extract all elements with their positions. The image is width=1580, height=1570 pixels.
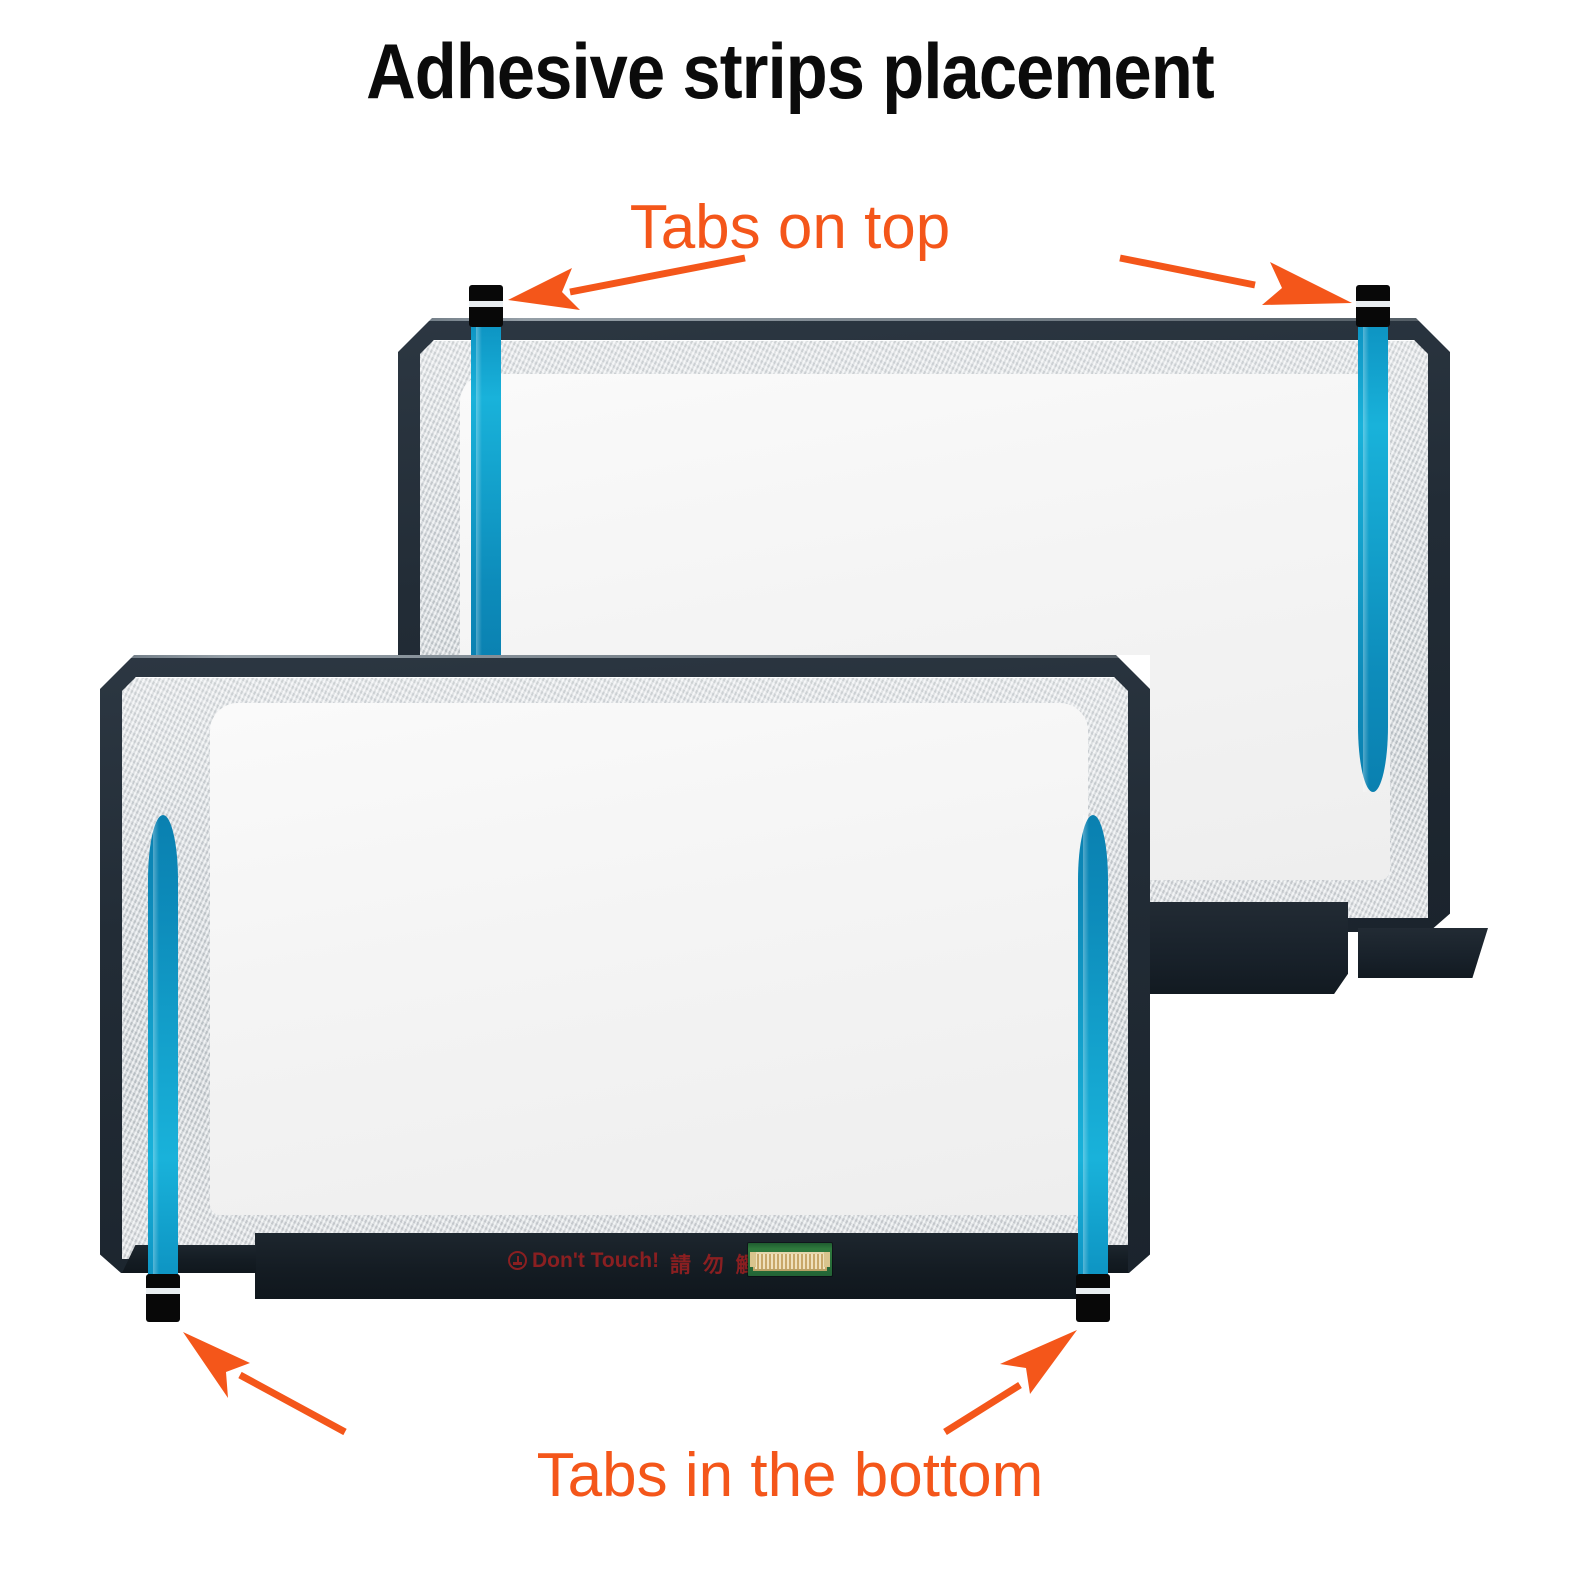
arrow-bottom-right [945, 1330, 1077, 1432]
callout-bottom-label: Tabs in the bottom [0, 1440, 1580, 1511]
rear-left-strip-sheen [476, 322, 483, 668]
arrow-top-left [508, 258, 745, 310]
front-right-strip-sheen [1083, 815, 1090, 1280]
panel-front-bezel-right-foot [1106, 1245, 1128, 1273]
rear-right-tab-line [1356, 301, 1390, 307]
panel-rear-top-highlight [398, 318, 1450, 321]
rear-right-strip-sheen [1363, 322, 1370, 792]
rear-left-tab-line [469, 301, 503, 307]
callout-top-label: Tabs on top [0, 192, 1580, 263]
panel-front-screen-area [210, 703, 1088, 1215]
front-right-tab-line [1076, 1288, 1110, 1294]
panel-rear-flex-strip-main [1116, 902, 1348, 994]
arrow-bottom-left [183, 1332, 345, 1432]
rear-left-strip-pull-tab[interactable] [469, 285, 503, 327]
panel-front-top-highlight [100, 655, 1150, 658]
laptop-lcd-panel-front: Don't Touch! 請 勿 觸 碰 [100, 655, 1150, 1273]
front-right-adhesive-strip[interactable] [1078, 815, 1108, 1280]
front-left-strip-sheen [153, 815, 160, 1280]
no-touch-icon [508, 1251, 527, 1270]
connector-end-right [824, 1252, 830, 1268]
rear-left-adhesive-strip[interactable] [471, 322, 501, 668]
rear-right-strip-pull-tab[interactable] [1356, 285, 1390, 327]
front-right-strip-pull-tab[interactable] [1076, 1274, 1110, 1322]
connector-pins [753, 1252, 827, 1271]
lvds-edp-connector [748, 1243, 832, 1276]
front-left-adhesive-strip[interactable] [148, 815, 178, 1280]
page-title: Adhesive strips placement [95, 32, 1485, 110]
panel-rear-flex-strip-side [1358, 928, 1488, 978]
front-left-strip-pull-tab[interactable] [146, 1274, 180, 1322]
bezel-warning-en: Don't Touch! [532, 1249, 659, 1273]
arrow-top-right [1120, 258, 1352, 305]
front-left-tab-line [146, 1288, 180, 1294]
diagram-canvas: Adhesive strips placement [0, 0, 1580, 1570]
panel-front-bezel-left-foot [122, 1245, 256, 1273]
rear-right-adhesive-strip[interactable] [1358, 322, 1388, 792]
connector-end-left [750, 1252, 756, 1268]
